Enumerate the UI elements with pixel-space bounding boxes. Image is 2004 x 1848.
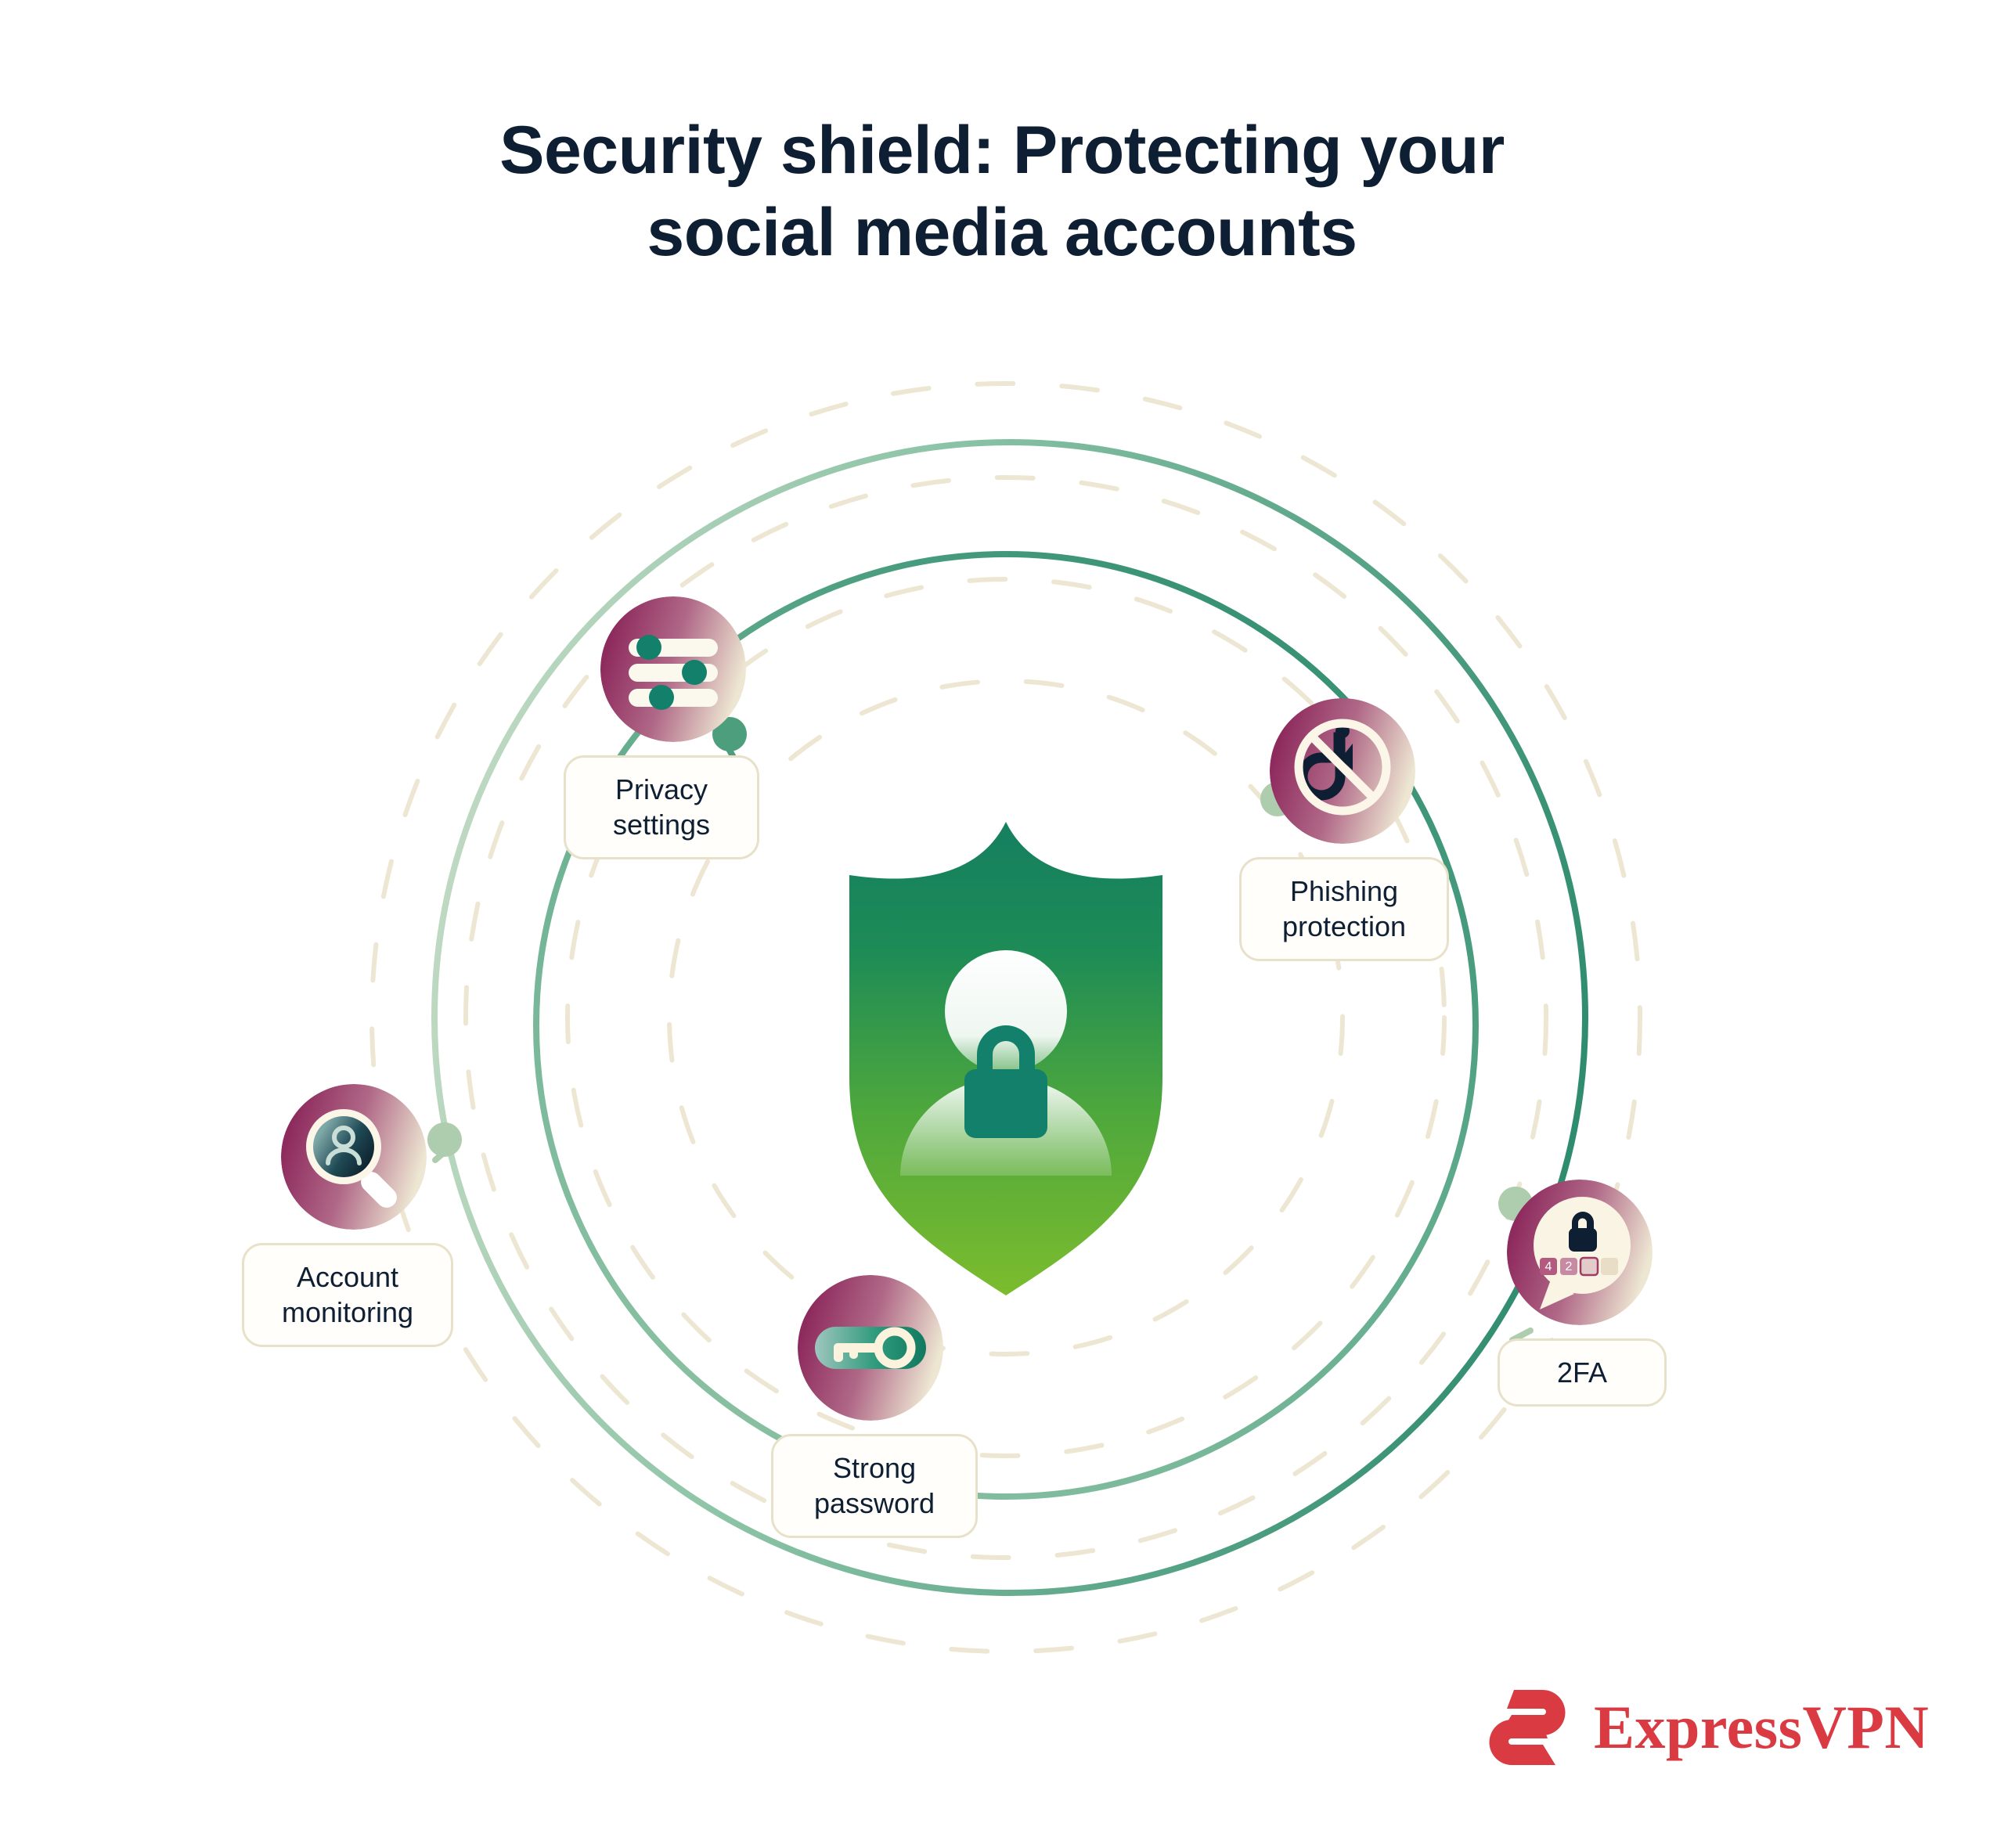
no-fishing-hook-icon <box>1270 698 1415 844</box>
label-strong-password[interactable]: Strong password <box>771 1434 978 1538</box>
magnifier-person-icon <box>281 1084 427 1230</box>
otp-speech-bubble-lock-icon: 4 2 <box>1507 1180 1653 1325</box>
sliders-icon <box>600 596 746 742</box>
connector-dot-account-monitoring <box>427 1122 462 1157</box>
label-2fa[interactable]: 2FA <box>1498 1338 1667 1407</box>
svg-text:4: 4 <box>1545 1260 1552 1273</box>
center-shield-icon <box>849 822 1162 1295</box>
svg-text:2: 2 <box>1566 1260 1573 1273</box>
key-pill-icon <box>798 1275 943 1421</box>
two-factor-auth-bubble[interactable]: 4 2 <box>1507 1180 1653 1325</box>
orbit-rings-layer <box>0 0 2004 1848</box>
account-monitoring-bubble[interactable] <box>281 1084 427 1230</box>
privacy-settings-bubble[interactable] <box>600 596 746 742</box>
expressvpn-logo: ExpressVPN <box>1487 1687 1929 1768</box>
expressvpn-logo-icon <box>1487 1687 1573 1768</box>
phishing-protection-bubble[interactable] <box>1270 698 1415 844</box>
strong-password-bubble[interactable] <box>798 1275 943 1421</box>
security-shield-diagram: Privacy settings <box>0 0 2004 1848</box>
label-privacy-settings[interactable]: Privacy settings <box>564 755 759 859</box>
expressvpn-wordmark: ExpressVPN <box>1594 1697 1929 1758</box>
label-phishing-protection[interactable]: Phishing protection <box>1239 857 1449 961</box>
label-account-monitoring[interactable]: Account monitoring <box>242 1243 453 1347</box>
